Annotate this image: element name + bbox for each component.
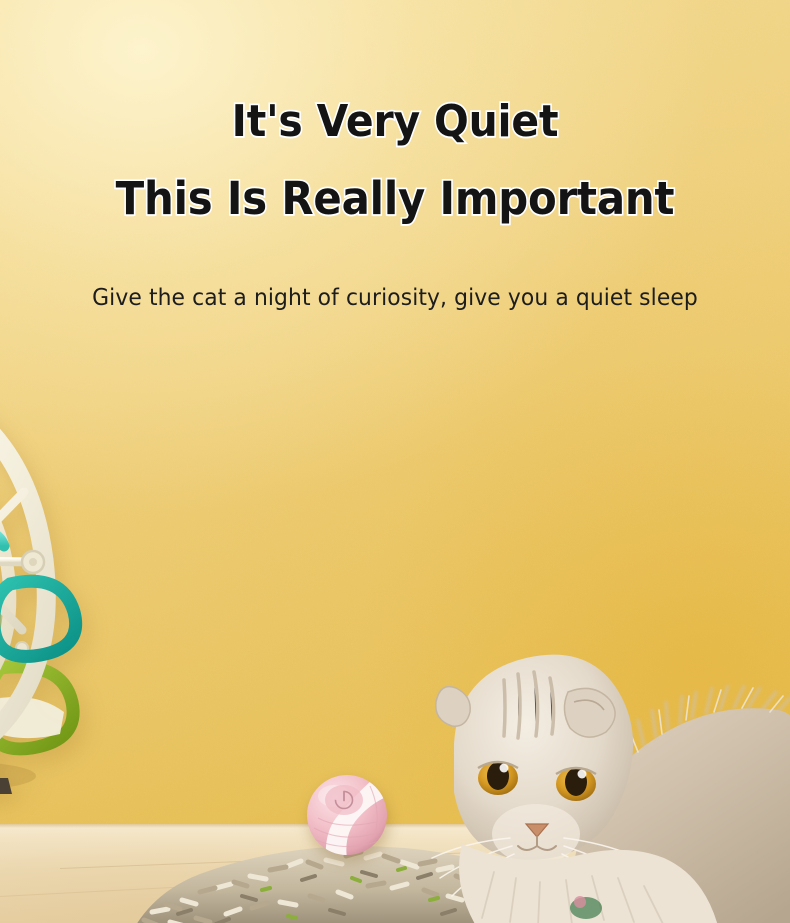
headline-line-2: This Is Really Important bbox=[28, 176, 763, 221]
banner-subtitle: Give the cat a night of curiosity, give … bbox=[20, 285, 771, 311]
ferris-wheel-cat-toy bbox=[0, 330, 154, 800]
product-banner: It's Very Quiet This Is Really Important… bbox=[0, 0, 790, 923]
smart-rolling-ball[interactable] bbox=[306, 774, 388, 856]
cat-ear-left bbox=[436, 687, 470, 727]
cat-eye-right bbox=[556, 767, 596, 801]
cat-eye-left bbox=[478, 761, 518, 795]
cat-collar-charm bbox=[574, 896, 586, 908]
scottish-fold-cat bbox=[418, 596, 790, 923]
headline-line-1: It's Very Quiet bbox=[28, 100, 763, 144]
